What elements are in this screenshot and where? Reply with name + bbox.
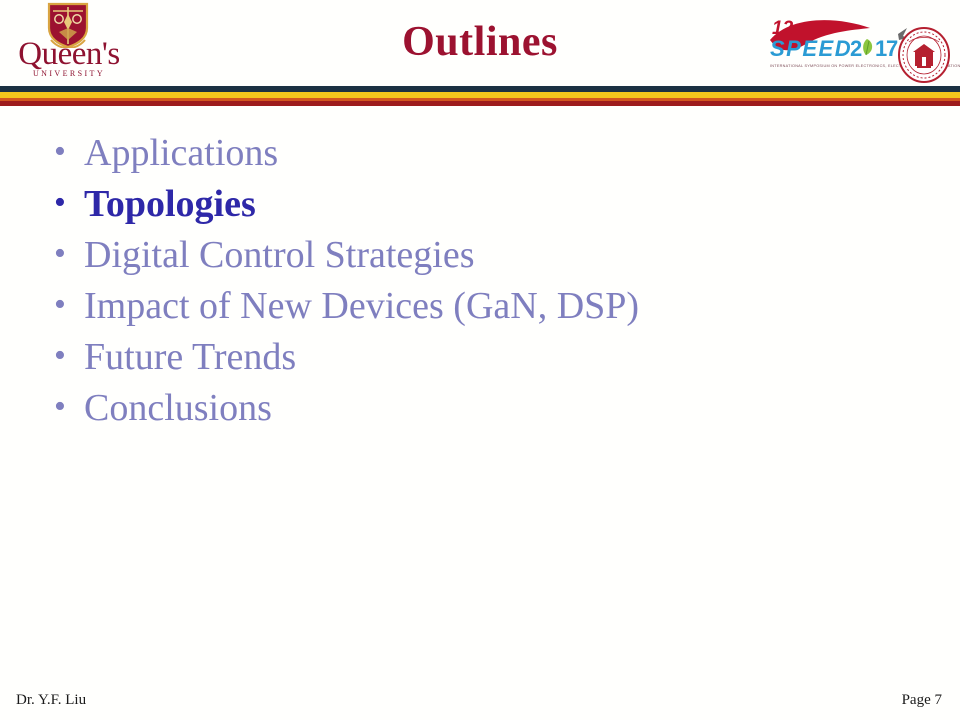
bullet-dot-icon: • <box>44 383 84 431</box>
bullet-dot-icon: • <box>44 332 84 380</box>
outline-item-3[interactable]: •Digital Control Strategies <box>44 230 924 281</box>
svg-text:2: 2 <box>850 36 862 61</box>
queens-wordmark: Queen's <box>8 38 130 71</box>
speed-logo-mark: 12 SPEED 2 1 7 <box>766 14 908 64</box>
outline-item-label: Impact of New Devices (GaN, DSP) <box>84 281 639 331</box>
outline-item-6[interactable]: •Conclusions <box>44 383 924 434</box>
queens-university-logo: Queen's UNIVERSITY <box>8 2 130 84</box>
slide-header: Queen's UNIVERSITY Outlines 12 SPEED 2 1 <box>0 0 960 86</box>
page-title: Outlines <box>230 18 730 66</box>
outline-bullet-list: •Applications•Topologies•Digital Control… <box>44 128 924 434</box>
bullet-dot-icon: • <box>44 230 84 278</box>
bullet-dot-icon: • <box>44 179 84 227</box>
outline-item-label: Applications <box>84 128 278 178</box>
bullet-dot-icon: • <box>44 128 84 176</box>
speed-2017-logo: 12 SPEED 2 1 7 INTERNATIONAL SYMPOSIUM O… <box>766 6 960 86</box>
footer-page-number: Page 7 <box>902 692 942 709</box>
stripe-red <box>0 101 960 106</box>
outline-item-4[interactable]: •Impact of New Devices (GaN, DSP) <box>44 281 924 332</box>
svg-text:SPEED: SPEED <box>770 36 852 61</box>
outline-item-1[interactable]: •Applications <box>44 128 924 179</box>
outline-item-2[interactable]: •Topologies <box>44 179 924 230</box>
presentation-slide: Queen's UNIVERSITY Outlines 12 SPEED 2 1 <box>0 0 960 720</box>
queens-subword: UNIVERSITY <box>8 69 130 78</box>
outline-item-label: Future Trends <box>84 332 296 382</box>
university-seal-icon <box>896 26 952 84</box>
footer-author: Dr. Y.F. Liu <box>16 692 86 709</box>
header-stripe-bar <box>0 86 960 106</box>
outline-item-5[interactable]: •Future Trends <box>44 332 924 383</box>
outline-item-label: Digital Control Strategies <box>84 230 475 280</box>
outline-item-label: Conclusions <box>84 383 272 433</box>
bullet-dot-icon: • <box>44 281 84 329</box>
outline-item-label: Topologies <box>84 179 256 229</box>
